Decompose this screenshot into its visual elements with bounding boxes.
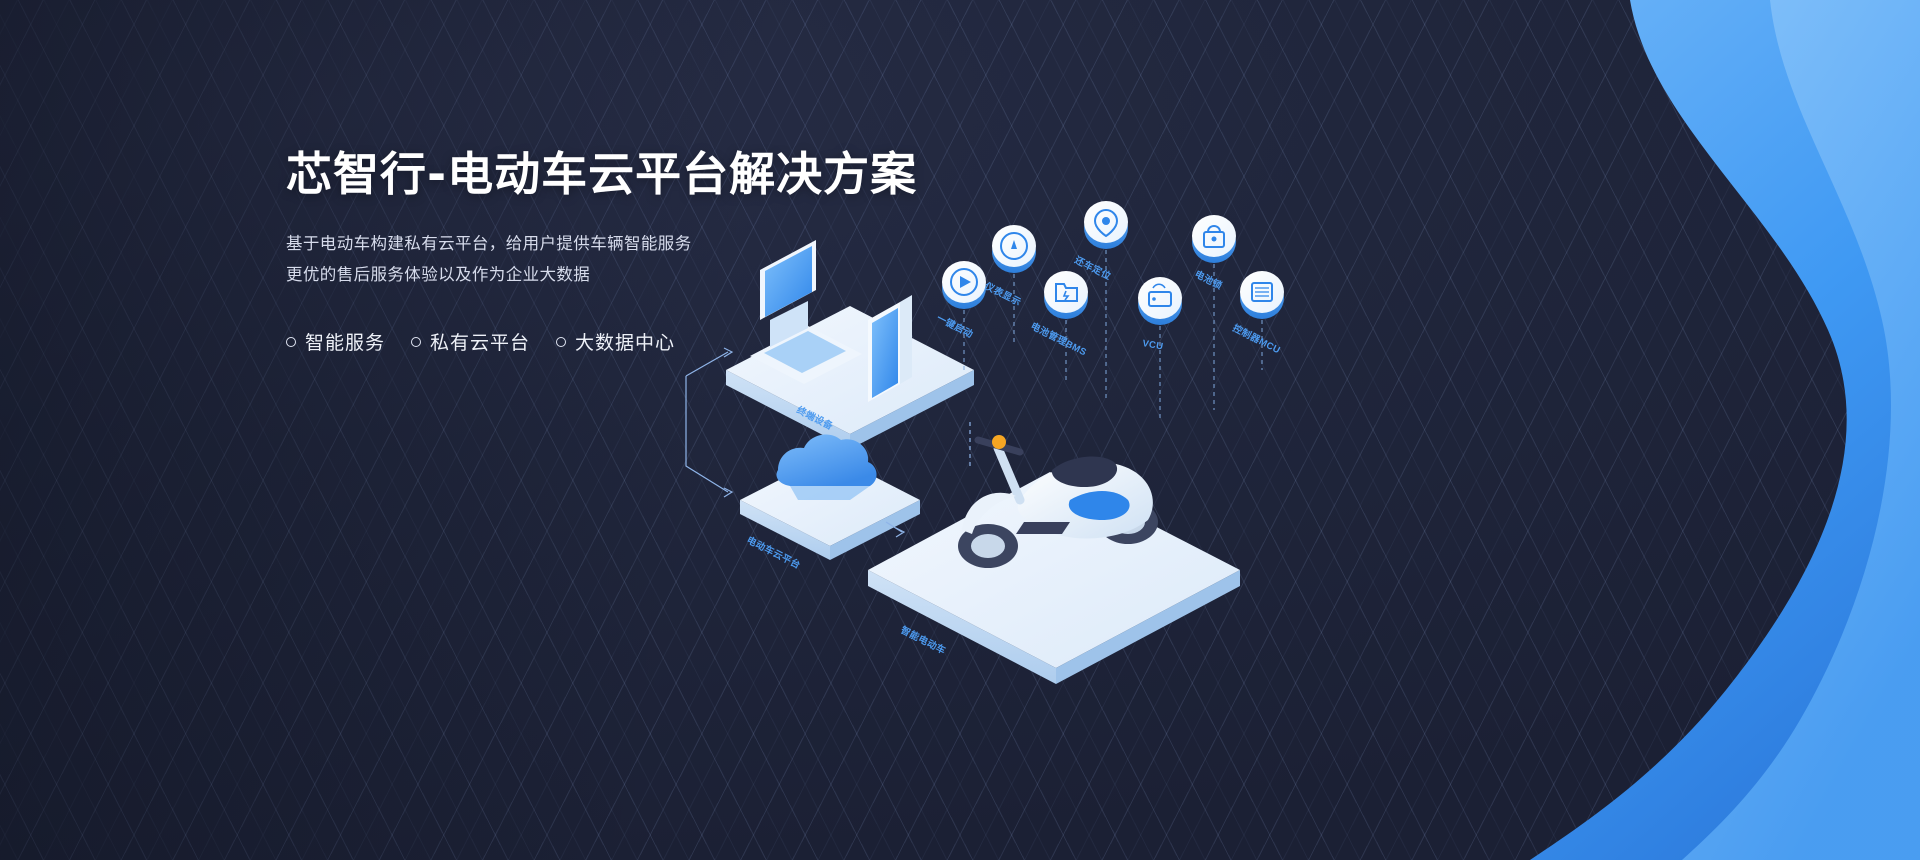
feature-item-smart-service[interactable]: 智能服务 [286, 328, 385, 355]
feature-node-mcu-controller[interactable]: 控制器MCU [1231, 271, 1284, 370]
feature-node-label: 仪表显示 [982, 280, 1023, 309]
feature-node-battery-management[interactable]: 电池管理BMS [1029, 271, 1089, 380]
circle-outline-icon [286, 337, 296, 347]
terminal-devices-group: 终端设备 [726, 240, 974, 449]
label-smart-vehicle: 智能电动车 [899, 624, 948, 657]
vehicle-platform-group: 智能电动车 [868, 435, 1240, 684]
cloud-platform-group: 电动车云平台 [740, 434, 920, 571]
feature-node-label: 电池管理BMS [1029, 320, 1089, 358]
feature-node-label: 电池锁 [1193, 268, 1225, 292]
feature-item-private-cloud[interactable]: 私有云平台 [411, 328, 530, 355]
feature-nodes-group: 一键启动 仪表显示 电池管理BMS [935, 201, 1284, 420]
circle-outline-icon [411, 337, 421, 347]
feature-node-dashboard-display[interactable]: 仪表显示 [982, 225, 1036, 346]
feature-label: 私有云平台 [430, 328, 530, 355]
feature-node-label: 控制器MCU [1231, 322, 1283, 356]
feature-node-battery-lock[interactable]: 电池锁 [1192, 215, 1236, 410]
isometric-illustration: 终端设备 电动车云平台 [600, 170, 1340, 690]
feature-node-label: 一键启动 [935, 312, 976, 341]
feature-node-label: VCU [1141, 338, 1164, 352]
feature-node-vcu[interactable]: VCU [1138, 277, 1182, 420]
circle-outline-icon [556, 337, 566, 347]
feature-label: 智能服务 [305, 328, 385, 355]
feature-node-one-key-start[interactable]: 一键启动 [935, 261, 986, 370]
banner-stage: 芯智行-电动车云平台解决方案 基于电动车构建私有云平台，给用户提供车辆智能服务 … [0, 0, 1920, 860]
